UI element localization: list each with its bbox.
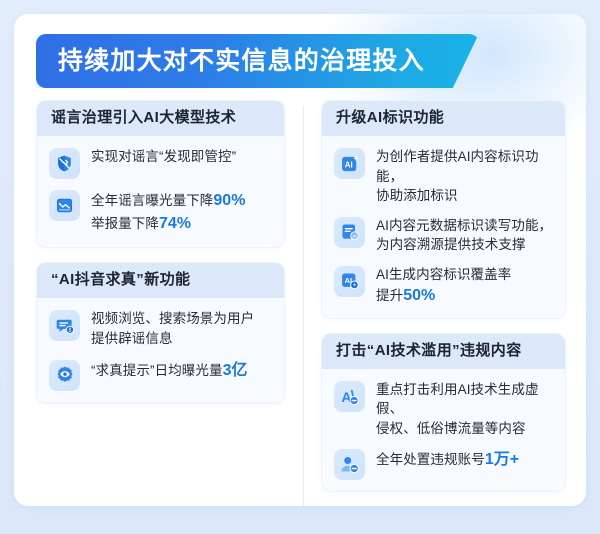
card-item: AI 为创作者提供AI内容标识功能，协助添加标识 [334,147,553,206]
ai-bolt-icon: AI [334,266,365,297]
card-header: 打击“AI技术滥用”违规内容 [322,334,565,369]
card-item: 全年处置违规账号1万+ [334,448,553,480]
card-header: 谣言治理引入AI大模型技术 [37,101,284,136]
card-title: “AI抖音求真”新功能 [51,271,270,289]
svg-text:AI: AI [344,160,352,169]
card-item-line: 全年处置违规账号1万+ [376,448,519,471]
card-item-line: “求真提示”日均曝光量3亿 [91,359,248,382]
ai-metadata-icon: AI [334,217,365,248]
card-item-text: “求真提示”日均曝光量3亿 [91,359,248,382]
card-item-line: 侵权、低俗博流量等内容 [376,419,553,439]
card-item: 视频浏览、搜索场景为用户提供辟谣信息 [49,309,272,348]
card-item-line: 全年谣言曝光量下降90% [91,189,245,212]
card-item-line: 提升50% [376,284,511,307]
svg-text:AI: AI [352,234,356,239]
card-header: 升级AI标识功能 [322,101,565,136]
columns-container: 谣言治理引入AI大模型技术 实现对谣言“发现即管控” 全年谣言曝光量下降90%举… [14,100,586,506]
ai-ban-icon: A [334,381,365,412]
card-title: 打击“AI技术滥用”违规内容 [336,342,551,360]
card-item: AI AI生成内容标识覆盖率提升50% [334,265,553,308]
infographic-stage: 持续加大对不实信息的治理投入 谣言治理引入AI大模型技术 实现对谣言“发现即管控… [0,0,600,534]
highlight-value: 50% [403,287,435,304]
card-body: 实现对谣言“发现即管控” 全年谣言曝光量下降90%举报量下降74% [37,136,284,247]
card-item-line: 为创作者提供AI内容标识功能， [376,147,553,186]
card-item-line: AI内容元数据标识读写功能， [376,216,552,236]
card-item: A 重点打击利用AI技术生成虚假、侵权、低俗博流量等内容 [334,380,553,439]
card-header: “AI抖音求真”新功能 [37,263,284,298]
card-item-line: 为内容溯源提供技术支撑 [376,235,552,255]
left-column: 谣言治理引入AI大模型技术 实现对谣言“发现即管控” 全年谣言曝光量下降90%举… [14,100,303,506]
shield-slash-icon [49,148,80,179]
page-title: 持续加大对不实信息的治理投入 [58,49,425,74]
card-item-line: 提供辟谣信息 [91,329,254,349]
card-body: AI 为创作者提供AI内容标识功能，协助添加标识 AI AI内容元数据标识读写功… [322,136,565,319]
card-body: A 重点打击利用AI技术生成虚假、侵权、低俗博流量等内容 全年处置违规账号1万+ [322,369,565,492]
highlight-value: 3亿 [223,362,248,379]
info-card: 升级AI标识功能 AI 为创作者提供AI内容标识功能，协助添加标识 AI AI内… [321,100,566,319]
card-item-line: 视频浏览、搜索场景为用户 [91,309,254,329]
card-item-line: 实现对谣言“发现即管控” [91,147,236,167]
right-column: 升级AI标识功能 AI 为创作者提供AI内容标识功能，协助添加标识 AI AI内… [303,100,586,506]
info-card: 打击“AI技术滥用”违规内容 A 重点打击利用AI技术生成虚假、侵权、低俗博流量… [321,333,566,492]
card-item-line: AI生成内容标识覆盖率 [376,265,511,285]
card-item-line: 重点打击利用AI技术生成虚假、 [376,380,553,419]
card-item: 实现对谣言“发现即管控” [49,147,272,179]
highlight-value: 90% [213,192,245,209]
card-item-text: 视频浏览、搜索场景为用户提供辟谣信息 [91,309,254,348]
highlight-value: 1万+ [485,451,519,468]
card-item-text: 为创作者提供AI内容标识功能，协助添加标识 [376,147,553,206]
card-item: AI AI内容元数据标识读写功能，为内容溯源提供技术支撑 [334,216,553,255]
user-ban-icon [334,449,365,480]
card-title: 谣言治理引入AI大模型技术 [51,109,270,127]
card-title: 升级AI标识功能 [336,109,551,127]
card-item-text: 全年谣言曝光量下降90%举报量下降74% [91,189,245,235]
card-item-text: 实现对谣言“发现即管控” [91,147,236,167]
highlight-value: 74% [159,215,191,232]
card-item-text: AI内容元数据标识读写功能，为内容溯源提供技术支撑 [376,216,552,255]
eye-verify-icon [49,360,80,391]
info-card: 谣言治理引入AI大模型技术 实现对谣言“发现即管控” 全年谣言曝光量下降90%举… [36,100,285,248]
card-item-line: 协助添加标识 [376,186,553,206]
card-body: 视频浏览、搜索场景为用户提供辟谣信息 “求真提示”日均曝光量3亿 [37,298,284,402]
card-item-line: 举报量下降74% [91,212,245,235]
chart-decline-icon [49,190,80,221]
content-panel: 持续加大对不实信息的治理投入 谣言治理引入AI大模型技术 实现对谣言“发现即管控… [14,14,586,506]
ai-plus-icon: AI [334,148,365,179]
info-card: “AI抖音求真”新功能 视频浏览、搜索场景为用户提供辟谣信息 “求真提示”日均曝… [36,262,285,403]
card-item-text: 全年处置违规账号1万+ [376,448,519,471]
card-item: “求真提示”日均曝光量3亿 [49,359,272,391]
header-banner: 持续加大对不实信息的治理投入 [36,34,479,88]
card-item-text: AI生成内容标识覆盖率提升50% [376,265,511,308]
card-item-text: 重点打击利用AI技术生成虚假、侵权、低俗博流量等内容 [376,380,553,439]
chat-alert-icon [49,310,80,341]
card-item: 全年谣言曝光量下降90%举报量下降74% [49,189,272,235]
